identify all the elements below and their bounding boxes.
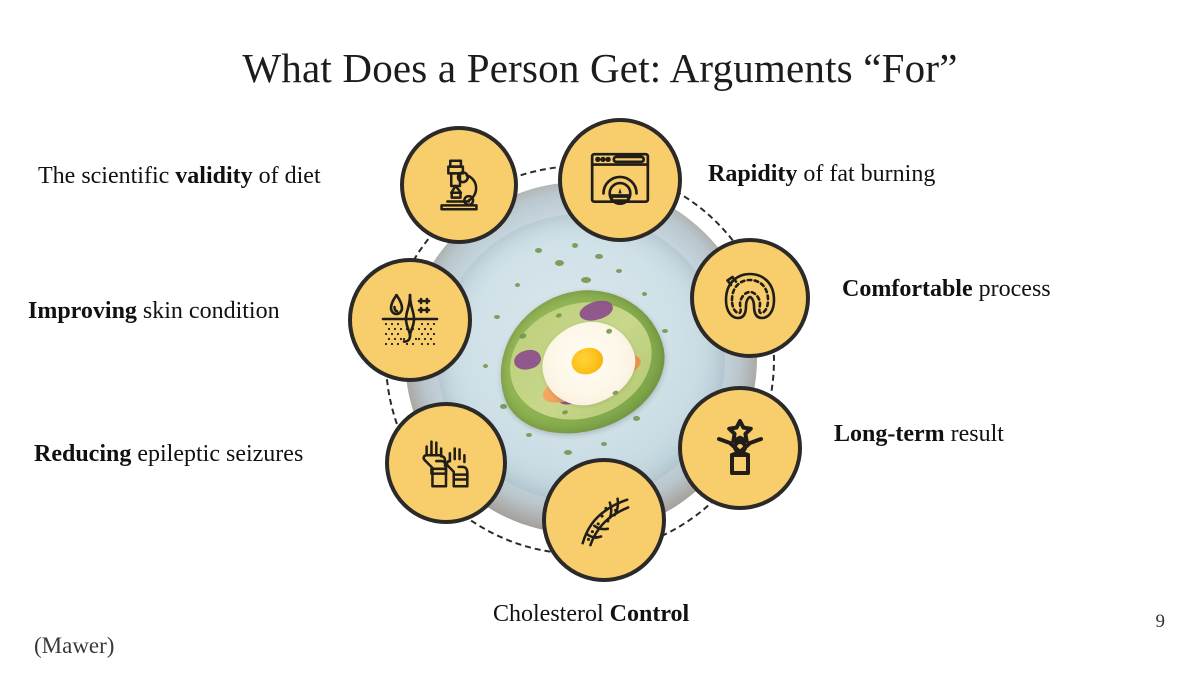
microscope-icon — [428, 154, 490, 216]
egg-yolk — [569, 343, 607, 377]
icon-bubble-comfortable[interactable] — [690, 238, 810, 358]
label-skin: Improving skin condition — [28, 297, 280, 326]
speed-gauge-icon — [587, 147, 653, 213]
label-longterm: Long-term result — [834, 420, 1004, 449]
label-validity: The scientific validity of diet — [38, 162, 321, 191]
citation: (Mawer) — [34, 633, 114, 659]
icon-bubble-seizures[interactable] — [385, 402, 507, 524]
baked-avocado — [480, 269, 682, 452]
icon-bubble-rapidity[interactable] — [558, 118, 682, 242]
raised-hands-icon — [415, 432, 477, 494]
label-comfortable: Comfortable process — [842, 275, 1051, 304]
page-number: 9 — [1156, 611, 1166, 633]
label-cholesterol: Cholesterol Control — [493, 600, 689, 629]
artery-plaque-icon — [573, 489, 635, 551]
icon-bubble-skin[interactable] — [348, 258, 472, 382]
neck-pillow-icon — [717, 268, 783, 328]
page-title: What Does a Person Get: Arguments “For” — [0, 44, 1200, 92]
icon-bubble-longterm[interactable] — [678, 386, 802, 510]
icon-bubble-cholesterol[interactable] — [542, 458, 666, 582]
label-rapidity: Rapidity of fat burning — [708, 160, 935, 189]
icon-bubble-validity[interactable] — [400, 126, 518, 244]
label-seizures: Reducing epileptic seizures — [34, 440, 303, 469]
skin-follicle-drop-icon — [377, 289, 443, 351]
achievement-person-star-icon — [708, 417, 772, 479]
